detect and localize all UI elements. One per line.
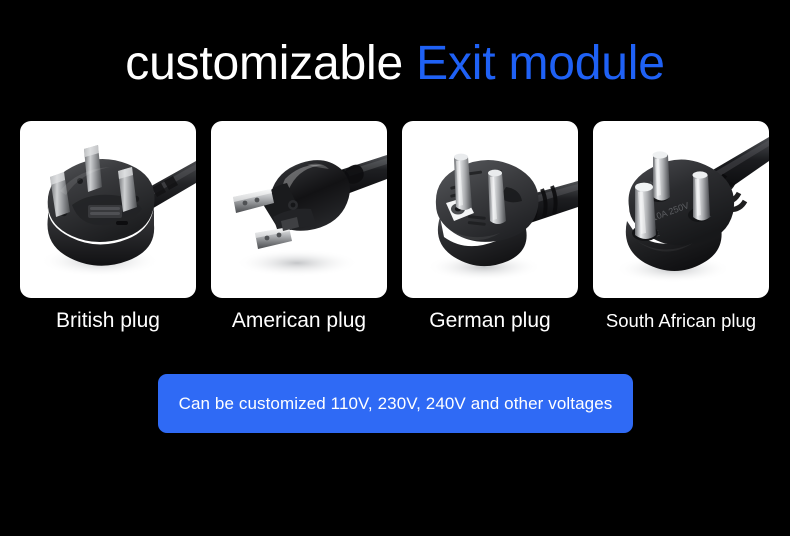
caption-british-plug: British plug [20,306,196,340]
caption-south-african-plug: South African plug [593,306,769,340]
plug-card-german[interactable] [402,121,578,298]
page-title-accent: Exit module [416,37,665,90]
page-title: customizable Exit module [0,36,790,92]
german-plug-icon [402,121,578,298]
plug-card-british[interactable] [20,121,196,298]
voltage-banner: Can be customized 110V, 230V, 240V and o… [158,374,633,433]
british-plug-icon [20,121,196,298]
south-african-plug-icon: 10A 250V N L E [593,121,769,298]
page-title-primary: customizable [125,37,416,90]
plug-card-south-african[interactable]: 10A 250V N L E [593,121,769,298]
plug-caption-row: British plug American plug German plug S… [20,306,770,340]
caption-american-plug: American plug [211,306,387,340]
voltage-banner-text: Can be customized 110V, 230V, 240V and o… [179,393,613,415]
plug-card-american[interactable] [211,121,387,298]
american-plug-icon [211,121,387,298]
plug-card-row: 10A 250V N L E [20,121,770,298]
caption-german-plug: German plug [402,306,578,340]
